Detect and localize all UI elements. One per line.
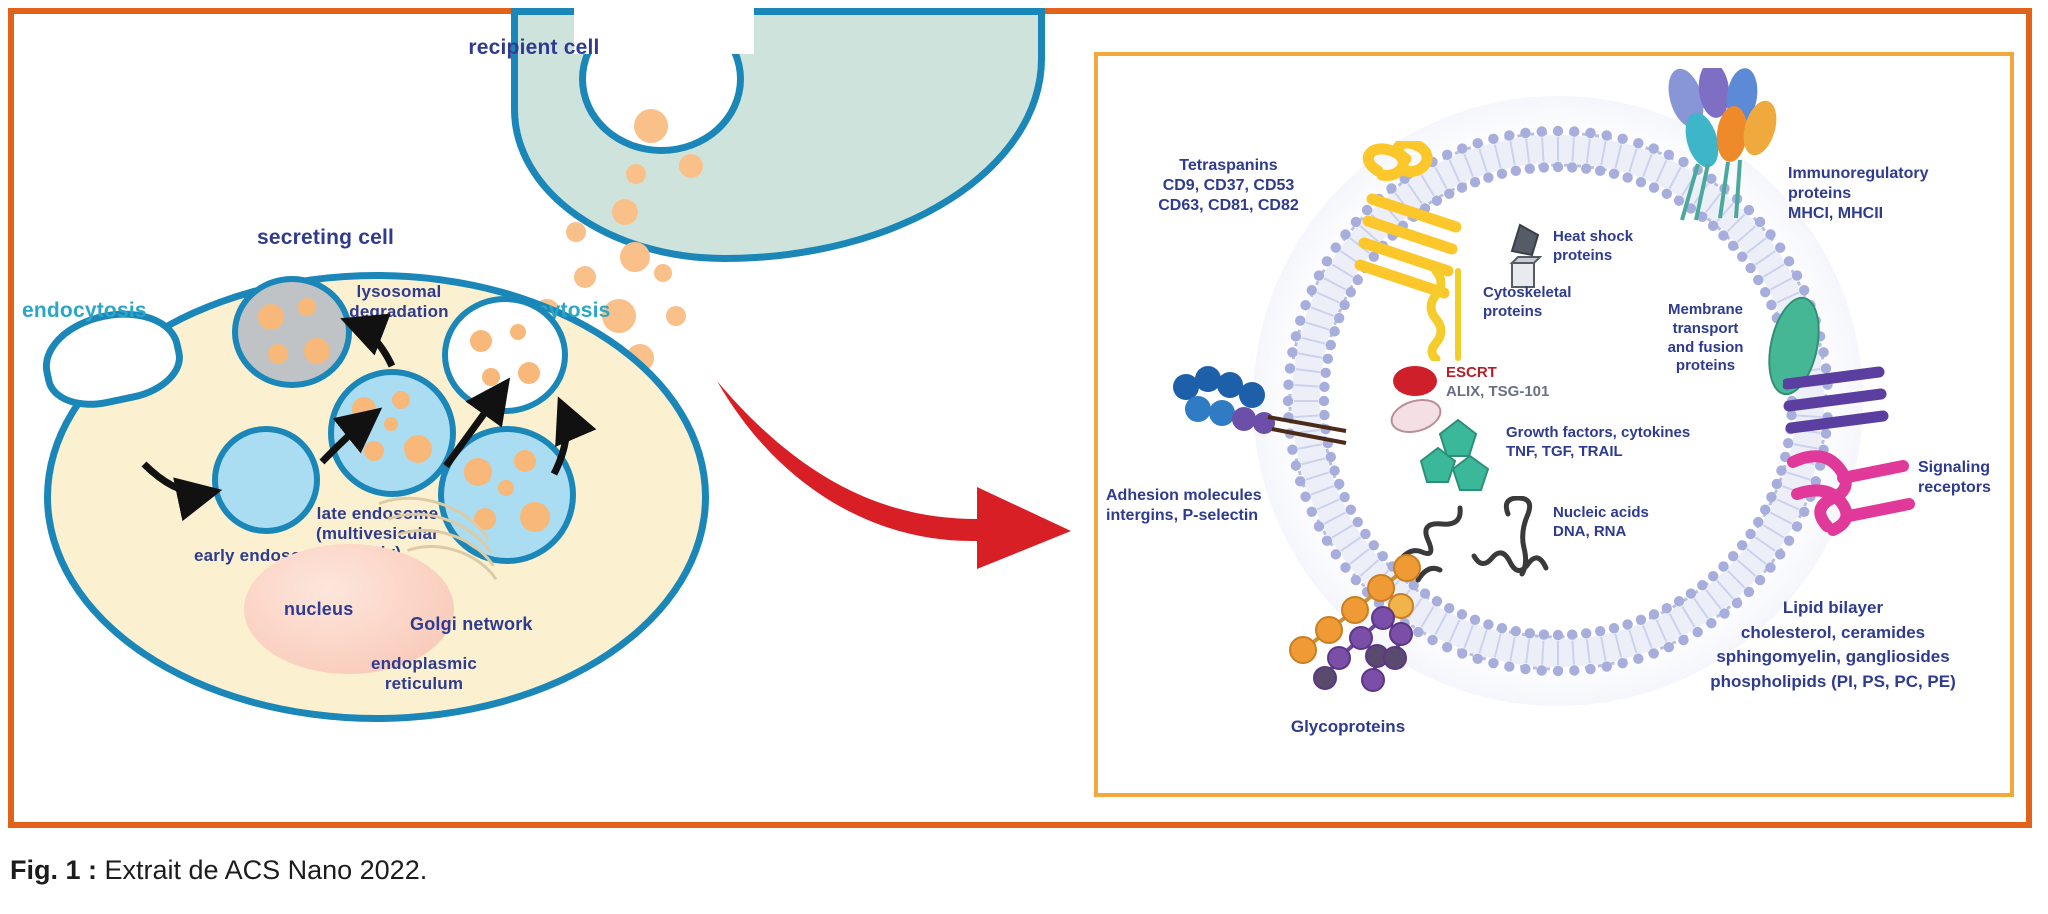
signaling-receptor-icon xyxy=(1783,366,1943,546)
label-tetraspanins: Tetraspanins CD9, CD37, CD53 CD63, CD81,… xyxy=(1116,156,1341,216)
label-signaling-line2: receptors xyxy=(1918,478,2028,498)
label-immunoregulatory: Immunoregulatory proteins MHCI, MHCII xyxy=(1788,164,2008,224)
label-tetraspanins-line1: Tetraspanins xyxy=(1116,156,1341,176)
label-immunoregulatory-line2: proteins xyxy=(1788,184,2008,204)
label-nucleic-acids-line1: Nucleic acids xyxy=(1553,504,1713,523)
label-lipid-bilayer-line3: sphingomyelin, gangliosides xyxy=(1658,645,2008,670)
escrt-red-icon xyxy=(1393,366,1437,396)
heat-shock-protein-icon xyxy=(1498,221,1548,293)
label-immunoregulatory-line1: Immunoregulatory xyxy=(1788,164,2008,184)
label-membrane-transport-line1: Membrane xyxy=(1643,301,1768,320)
label-cytoskeletal-line1: Cytoskeletal xyxy=(1483,284,1623,303)
label-heat-shock-line1: Heat shock xyxy=(1553,228,1703,247)
figure-page: recipient cell exosomes secreting cell e… xyxy=(0,0,2048,914)
left-panel-cell-diagram: recipient cell exosomes secreting cell e… xyxy=(14,14,1084,822)
label-escrt-line2: ALIX, TSG-101 xyxy=(1446,383,1626,402)
figure-frame: recipient cell exosomes secreting cell e… xyxy=(8,8,2032,828)
label-lipid-bilayer-line1: Lipid bilayer xyxy=(1658,596,2008,621)
label-cytoskeletal-line2: proteins xyxy=(1483,303,1623,322)
label-nucleic-acids: Nucleic acids DNA, RNA xyxy=(1553,504,1713,542)
label-tetraspanins-line3: CD63, CD81, CD82 xyxy=(1116,196,1341,216)
label-adhesion-molecules: Adhesion molecules intergins, P-selectin xyxy=(1106,486,1336,526)
label-membrane-transport-line4: proteins xyxy=(1643,357,1768,376)
figure-caption: Fig. 1 : Extrait de ACS Nano 2022. xyxy=(10,855,427,886)
label-membrane-transport: Membrane transport and fusion proteins xyxy=(1643,301,1768,376)
label-lipid-bilayer-line4: phospholipids (PI, PS, PC, PE) xyxy=(1658,670,2008,695)
label-adhesion-line1: Adhesion molecules xyxy=(1106,486,1336,506)
cytoskeletal-protein-icon xyxy=(1418,266,1478,361)
label-escrt-line1: ESCRT xyxy=(1446,364,1626,383)
red-pointer-arrow xyxy=(709,369,1089,569)
label-growth-factors-line1: Growth factors, cytokines xyxy=(1506,424,1766,443)
glycoprotein-icon xyxy=(1273,526,1453,716)
label-heat-shock: Heat shock proteins xyxy=(1553,228,1703,266)
label-escrt: ESCRT ALIX, TSG-101 xyxy=(1446,364,1626,402)
growth-factor-icon xyxy=(1418,416,1498,496)
label-tetraspanins-line2: CD9, CD37, CD53 xyxy=(1116,176,1341,196)
label-immunoregulatory-line3: MHCI, MHCII xyxy=(1788,204,2008,224)
label-signaling-line1: Signaling xyxy=(1918,458,2028,478)
label-nucleic-acids-line2: DNA, RNA xyxy=(1553,523,1713,542)
label-growth-factors-line2: TNF, TGF, TRAIL xyxy=(1506,443,1766,462)
label-adhesion-line2: intergins, P-selectin xyxy=(1106,506,1336,526)
label-membrane-transport-line3: and fusion xyxy=(1643,339,1768,358)
adhesion-molecule-icon xyxy=(1168,351,1348,481)
label-cytoskeletal: Cytoskeletal proteins xyxy=(1483,284,1623,322)
figure-caption-label: Fig. 1 : xyxy=(10,855,97,885)
label-heat-shock-line2: proteins xyxy=(1553,247,1703,266)
label-growth-factors: Growth factors, cytokines TNF, TGF, TRAI… xyxy=(1506,424,1766,462)
label-glycoproteins: Glycoproteins xyxy=(1238,716,1458,737)
right-panel-exosome-composition: Tetraspanins CD9, CD37, CD53 CD63, CD81,… xyxy=(1094,52,2014,797)
figure-caption-text: Extrait de ACS Nano 2022. xyxy=(105,855,428,885)
label-membrane-transport-line2: transport xyxy=(1643,320,1768,339)
label-lipid-bilayer-line2: cholesterol, ceramides xyxy=(1658,621,2008,646)
label-lipid-bilayer: Lipid bilayer cholesterol, ceramides sph… xyxy=(1658,596,2008,695)
label-signaling-receptors: Signaling receptors xyxy=(1918,458,2028,498)
